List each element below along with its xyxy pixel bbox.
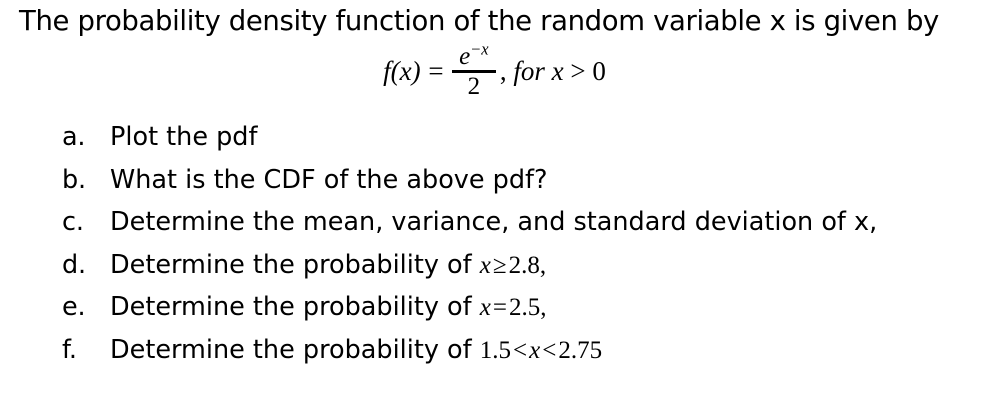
text-run-op: = xyxy=(491,294,509,321)
text-run-text: What is the CDF of the above pdf? xyxy=(110,165,548,195)
list-item-text: Plot the pdf xyxy=(110,116,257,159)
list-item-text: What is the CDF of the above pdf? xyxy=(110,159,548,202)
text-run-num: , xyxy=(540,252,546,279)
text-run-text: Plot the pdf xyxy=(110,122,257,152)
condition-variable: x xyxy=(552,56,564,86)
list-item: c. Determine the mean, variance, and sta… xyxy=(0,201,1005,244)
pdf-equation: f(x) = e−x 2 , for x > 0 xyxy=(0,44,1005,99)
list-item-marker: d. xyxy=(62,244,96,287)
text-run-text: Determine the probability of xyxy=(110,292,480,322)
list-item-text: Determine the probability of 1.5<x<2.75 xyxy=(110,329,602,373)
text-run-var: x xyxy=(480,294,491,321)
text-run-num: , xyxy=(540,294,546,321)
list-item-marker: b. xyxy=(62,159,96,202)
equation-row: f(x) = e−x 2 , for x > 0 xyxy=(383,44,606,99)
text-run-var: x xyxy=(529,337,540,364)
text-run-num: 1.5 xyxy=(480,337,511,364)
list-item: b. What is the CDF of the above pdf? xyxy=(0,159,1005,202)
text-run-op: ≥ xyxy=(491,252,509,279)
equation-comma: , xyxy=(500,56,507,86)
text-run-op: < xyxy=(511,337,529,364)
condition-value: 0 xyxy=(592,56,606,86)
problem-statement-page: The probability density function of the … xyxy=(0,0,1005,401)
equation-left-hand-side: f(x) xyxy=(383,58,420,85)
condition-operator: > xyxy=(570,56,585,86)
fraction-denominator: 2 xyxy=(462,73,487,99)
list-item-marker: e. xyxy=(62,286,96,329)
text-run-text: Determine the probability of xyxy=(110,250,480,280)
condition-for-keyword: for xyxy=(513,56,545,86)
equation-fraction: e−x 2 xyxy=(452,44,496,99)
list-item-text: Determine the probability of x≥2.8, xyxy=(110,244,546,288)
text-run-num: 2.8 xyxy=(509,252,540,279)
question-list: a. Plot the pdf b. What is the CDF of th… xyxy=(0,116,1005,371)
numerator-base: e xyxy=(459,43,470,70)
text-run-num: 2.5 xyxy=(509,294,540,321)
text-run-var: x xyxy=(480,252,491,279)
list-item: e. Determine the probability of x=2.5, xyxy=(0,286,1005,329)
list-item: a. Plot the pdf xyxy=(0,116,1005,159)
list-item: f. Determine the probability of 1.5<x<2.… xyxy=(0,329,1005,372)
list-item-marker: a. xyxy=(62,116,96,159)
fraction-numerator: e−x xyxy=(453,44,495,70)
list-item-marker: f. xyxy=(62,329,96,372)
list-item-marker: c. xyxy=(62,201,96,244)
numerator-exponent: −x xyxy=(470,40,488,59)
list-item-text: Determine the probability of x=2.5, xyxy=(110,286,546,330)
text-run-text: Determine the mean, variance, and standa… xyxy=(110,207,877,237)
text-run-op: < xyxy=(540,337,558,364)
equation-equals-sign: = xyxy=(427,58,445,85)
list-item-text: Determine the mean, variance, and standa… xyxy=(110,201,877,244)
text-run-text: Determine the probability of xyxy=(110,335,480,365)
text-run-num: 2.75 xyxy=(558,337,602,364)
list-item: d. Determine the probability of x≥2.8, xyxy=(0,244,1005,287)
equation-condition: , for x > 0 xyxy=(500,58,606,85)
prompt-text: The probability density function of the … xyxy=(19,4,994,38)
